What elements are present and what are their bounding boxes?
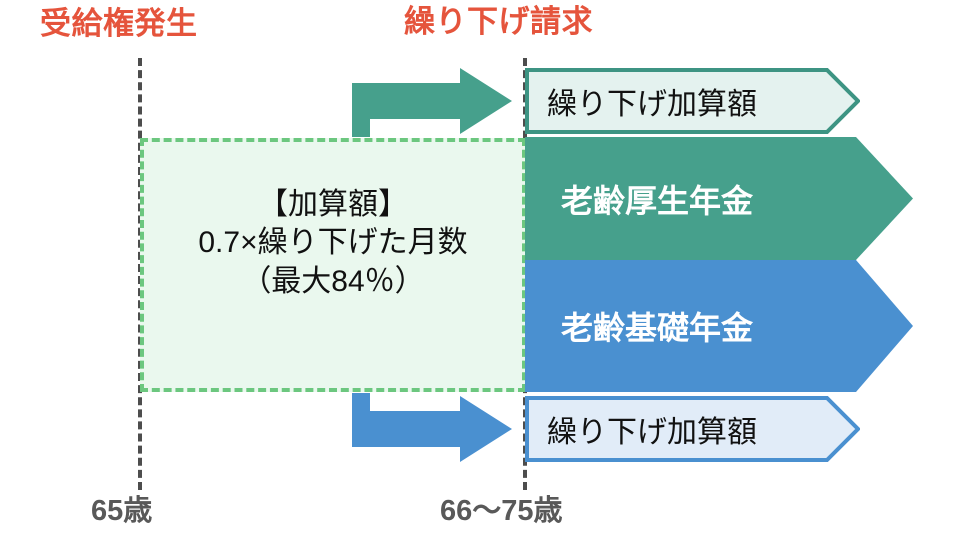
arrow-down-to-bottom-addition bbox=[352, 393, 512, 462]
heading-deferred-claim: 繰り下げ請求 bbox=[404, 6, 593, 37]
band-basic-pension: 老齢基礎年金 bbox=[525, 260, 913, 392]
axis-label-age-66-75: 66〜75歳 bbox=[440, 497, 563, 526]
band-basic-pension-label: 老齢基礎年金 bbox=[525, 303, 913, 349]
calc-line-heading: 【加算額】 bbox=[140, 186, 526, 224]
band-employees-pension: 老齢厚生年金 bbox=[525, 137, 913, 260]
heading-entitlement-start: 受給権発生 bbox=[40, 8, 198, 39]
band-bottom-deferral-addition: 繰り下げ加算額 bbox=[525, 396, 860, 462]
band-top-label: 繰り下げ加算額 bbox=[525, 79, 860, 123]
pension-deferral-diagram: 受給権発生 繰り下げ請求 【加算額】 0.7×繰り下げた月数 （最大84％） 繰… bbox=[0, 0, 960, 540]
band-employees-pension-label: 老齢厚生年金 bbox=[525, 176, 913, 222]
band-top-deferral-addition: 繰り下げ加算額 bbox=[525, 68, 860, 134]
arrow-up-to-top-addition bbox=[352, 68, 512, 137]
addition-calculation-text: 【加算額】 0.7×繰り下げた月数 （最大84％） bbox=[140, 186, 526, 301]
axis-label-age-65: 65歳 bbox=[91, 497, 152, 526]
band-bottom-label: 繰り下げ加算額 bbox=[525, 407, 860, 451]
calc-line-formula: 0.7×繰り下げた月数 bbox=[140, 224, 526, 262]
calc-line-max: （最大84％） bbox=[140, 263, 526, 301]
